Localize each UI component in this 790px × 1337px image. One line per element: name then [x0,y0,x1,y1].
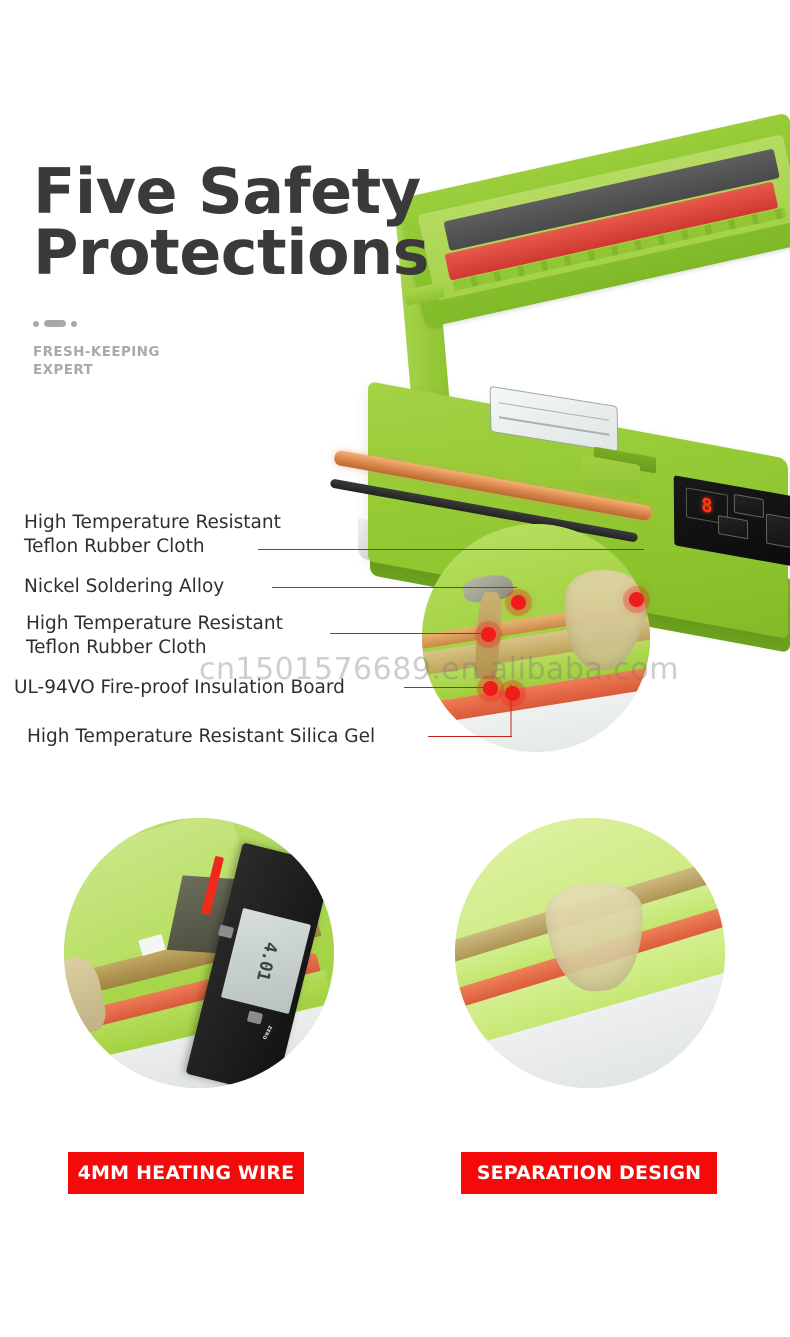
callout-teflon-rubber-cloth-mid: High Temperature Resistant Teflon Rubber… [26,612,283,659]
product-feature-page: Five Safety Protections FRESH-KEEPING EX… [0,0,790,1337]
marker-dot-silica-gel [505,686,520,701]
page-title: Five Safety Protections [33,162,503,284]
leader-line-nickel-alloy [272,587,517,588]
panel-button-3[interactable] [766,513,790,548]
marker-dot-insulation-board [483,681,498,696]
caliper-button-zero[interactable]: ZERO [260,1024,272,1040]
decor-dot-left [33,321,39,327]
leader-line-teflon-mid [330,633,487,634]
panel-button-1[interactable] [734,494,764,518]
page-subtitle: FRESH-KEEPING EXPERT [33,343,233,379]
leader-line-silica-gel [428,736,512,737]
feature-caption-separation-design: SEPARATION DESIGN [461,1152,717,1194]
decor-dash-middle [44,320,66,327]
feature-image-separation-design [455,818,725,1088]
feature-image-heating-wire: MM/INCH POWER ZERO 4.01 [64,818,334,1088]
caliper-reading: 4.01 [252,940,281,983]
callout-silica-gel: High Temperature Resistant Silica Gel [27,725,375,749]
callout-nickel-soldering-alloy: Nickel Soldering Alloy [24,575,224,599]
page-title-text: Five Safety Protections [33,162,503,284]
panel-button-2[interactable] [718,515,748,539]
feature-caption-heating-wire: 4MM HEATING WIRE [68,1152,304,1194]
magnified-detail-circle [422,524,650,752]
callout-teflon-rubber-cloth-top: High Temperature Resistant Teflon Rubber… [24,511,281,558]
callout-fireproof-insulation-board: UL-94VO Fire-proof Insulation Board [14,676,345,700]
marker-dot-teflon-mid [481,627,496,642]
three-dashes-decor-icon [33,320,77,327]
leader-line-insulation-board [404,687,489,688]
leader-line-teflon-top [258,549,644,550]
display-value: 8 [701,496,713,517]
decor-dot-right [71,321,77,327]
marker-dot-teflon-top [629,592,644,607]
marker-dot-nickel-alloy [511,595,526,610]
